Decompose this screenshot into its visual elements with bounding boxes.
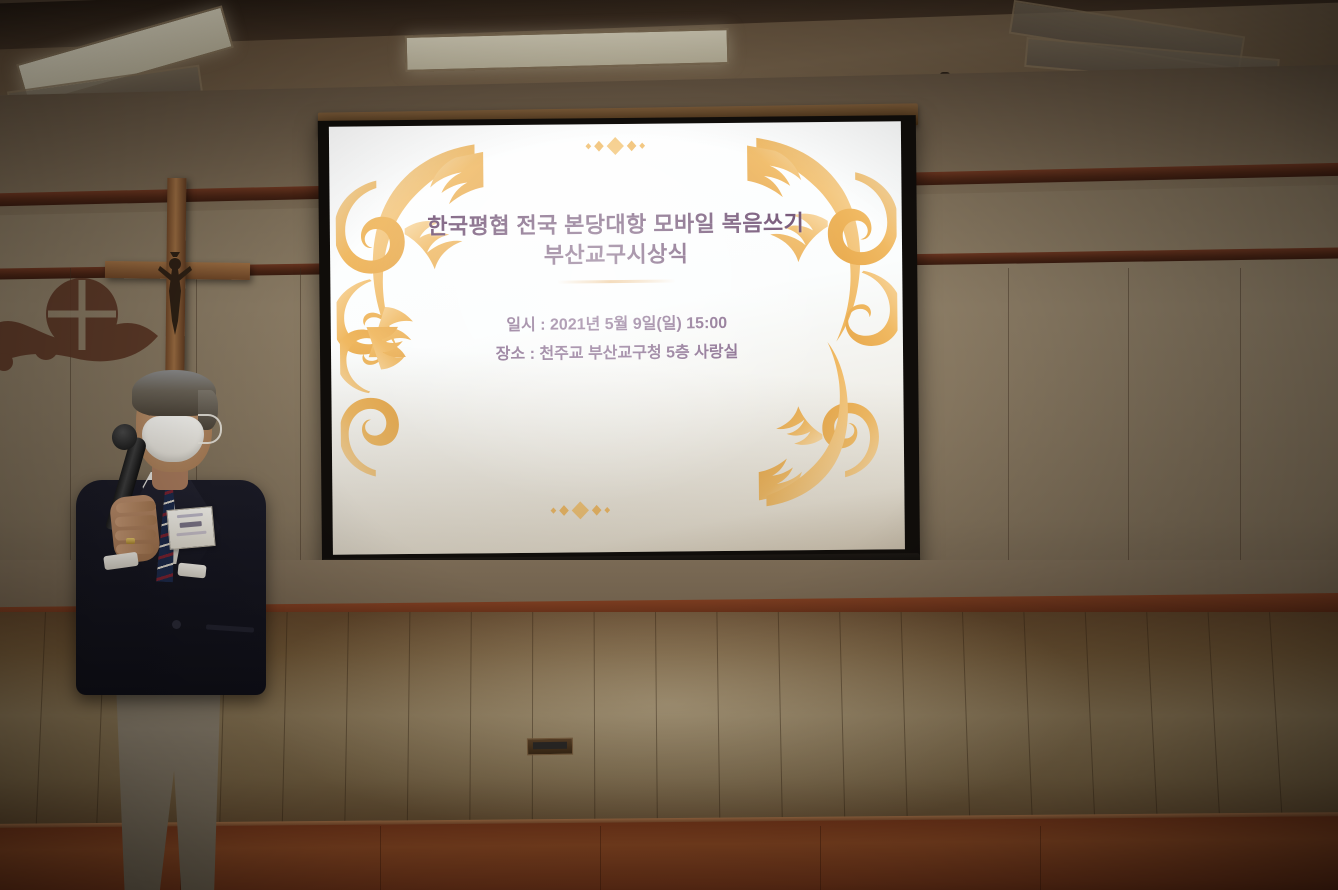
speaker-jacket-button — [172, 620, 181, 629]
wall-panel-seam — [1008, 268, 1009, 598]
presentation-slide: 한국평협 전국 본당대항 모바일 복음쓰기 부산교구시상식 일시 : 2021년… — [329, 121, 905, 554]
slide-info-block: 일시 : 2021년 5월 9일(일) 15:00 장소 : 천주교 부산교구청… — [365, 308, 869, 371]
speaker-shirt-cuff-right — [177, 563, 206, 579]
speaker — [60, 368, 290, 890]
crucifix-icon — [158, 252, 192, 342]
speaker-ring — [126, 538, 135, 544]
slide-title-line-1: 한국평협 전국 본당대항 모바일 복음쓰기 — [364, 207, 868, 242]
projection-screen: 한국평협 전국 본당대항 모바일 복음쓰기 부산교구시상식 일시 : 2021년… — [318, 115, 920, 583]
slide-info-location: 장소 : 천주교 부산교구청 5층 사랑실 — [365, 337, 869, 371]
short-gold-rule-icon — [557, 279, 675, 283]
face-mask-strap — [198, 414, 222, 444]
wall-panel-seam — [300, 268, 301, 598]
stage-floor-outlet-icon — [527, 738, 573, 756]
slide-title-block: 한국평협 전국 본당대항 모바일 복음쓰기 부산교구시상식 — [364, 207, 868, 285]
screen-surface: 한국평협 전국 본당대항 모바일 복음쓰기 부산교구시상식 일시 : 2021년… — [329, 121, 905, 554]
wall-panel-seam — [1240, 268, 1241, 598]
wall-panel-seam — [1128, 268, 1129, 598]
name-badge — [166, 506, 215, 550]
slide-title-line-2: 부산교구시상식 — [364, 237, 868, 272]
photo-scene: 한국평협 전국 본당대항 모바일 복음쓰기 부산교구시상식 일시 : 2021년… — [0, 0, 1338, 890]
